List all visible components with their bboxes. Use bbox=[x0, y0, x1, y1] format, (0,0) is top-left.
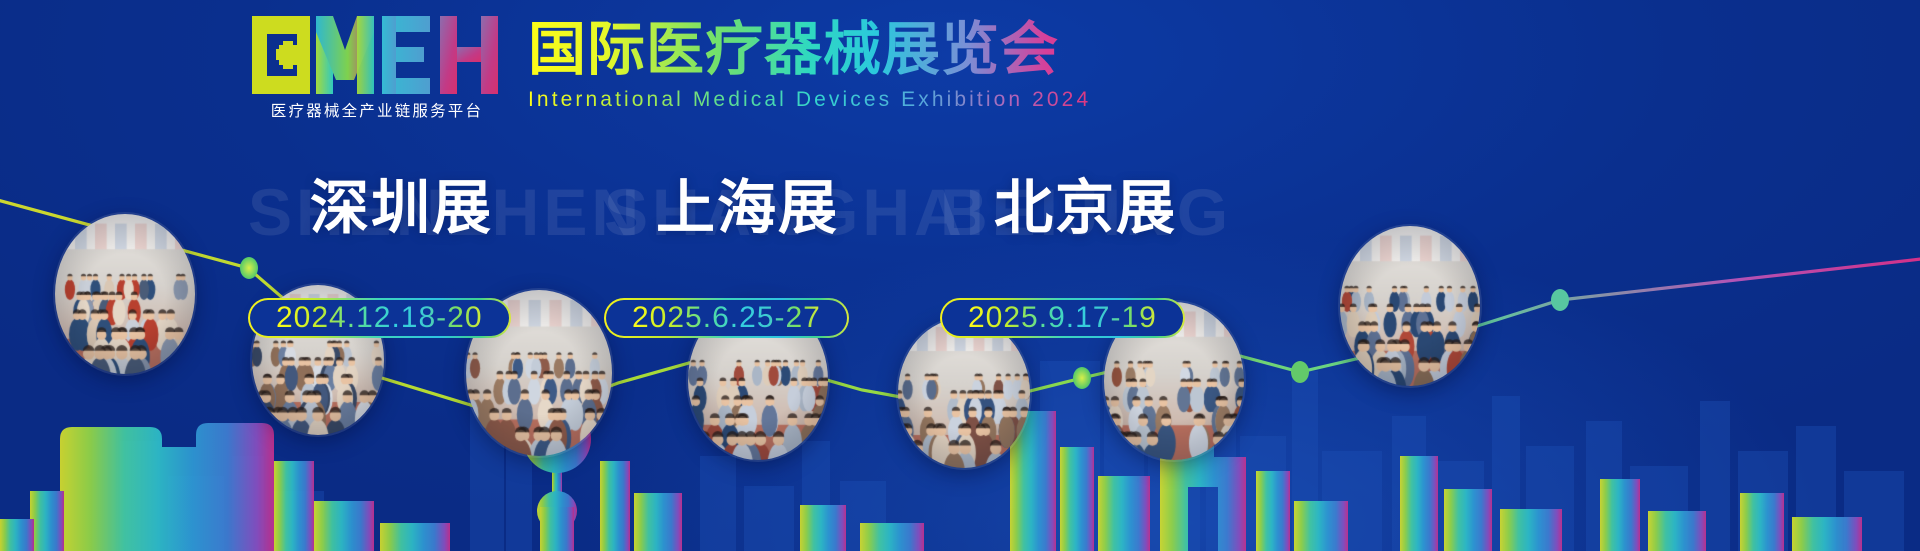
city-name-beijing: 北京展 bbox=[994, 160, 1177, 245]
event-title-block: 国际医疗器械展览会 International Medical Devices … bbox=[528, 18, 1091, 112]
date-text-beijing: 2025.9.17-19 bbox=[968, 301, 1157, 334]
event-title-chinese: 国际医疗器械展览会 bbox=[528, 18, 1091, 82]
event-banner: 医疗器械全产业链服务平台 国际医疗器械展览会 International Med… bbox=[0, 0, 1920, 551]
date-badge-shanghai[interactable]: 2025.6.25-27 bbox=[604, 298, 849, 338]
logo-tagline: 医疗器械全产业链服务平台 bbox=[252, 99, 502, 121]
city-editions-row: SHENZHEN 深圳展 2024.12.18-20 SHANGHAI 上海展 … bbox=[0, 150, 1920, 350]
date-badge-beijing[interactable]: 2025.9.17-19 bbox=[940, 298, 1185, 338]
cmeh-logo: 医疗器械全产业链服务平台 bbox=[252, 16, 502, 121]
date-badge-shenzhen[interactable]: 2024.12.18-20 bbox=[248, 298, 511, 338]
city-name-shanghai: 上海展 bbox=[656, 160, 839, 245]
city-name-shenzhen: 深圳展 bbox=[310, 160, 493, 245]
date-text-shenzhen: 2024.12.18-20 bbox=[276, 301, 483, 334]
date-text-shanghai: 2025.6.25-27 bbox=[632, 301, 821, 334]
event-title-english: International Medical Devices Exhibition… bbox=[528, 88, 1091, 112]
cmeh-logo-mark bbox=[252, 16, 500, 94]
